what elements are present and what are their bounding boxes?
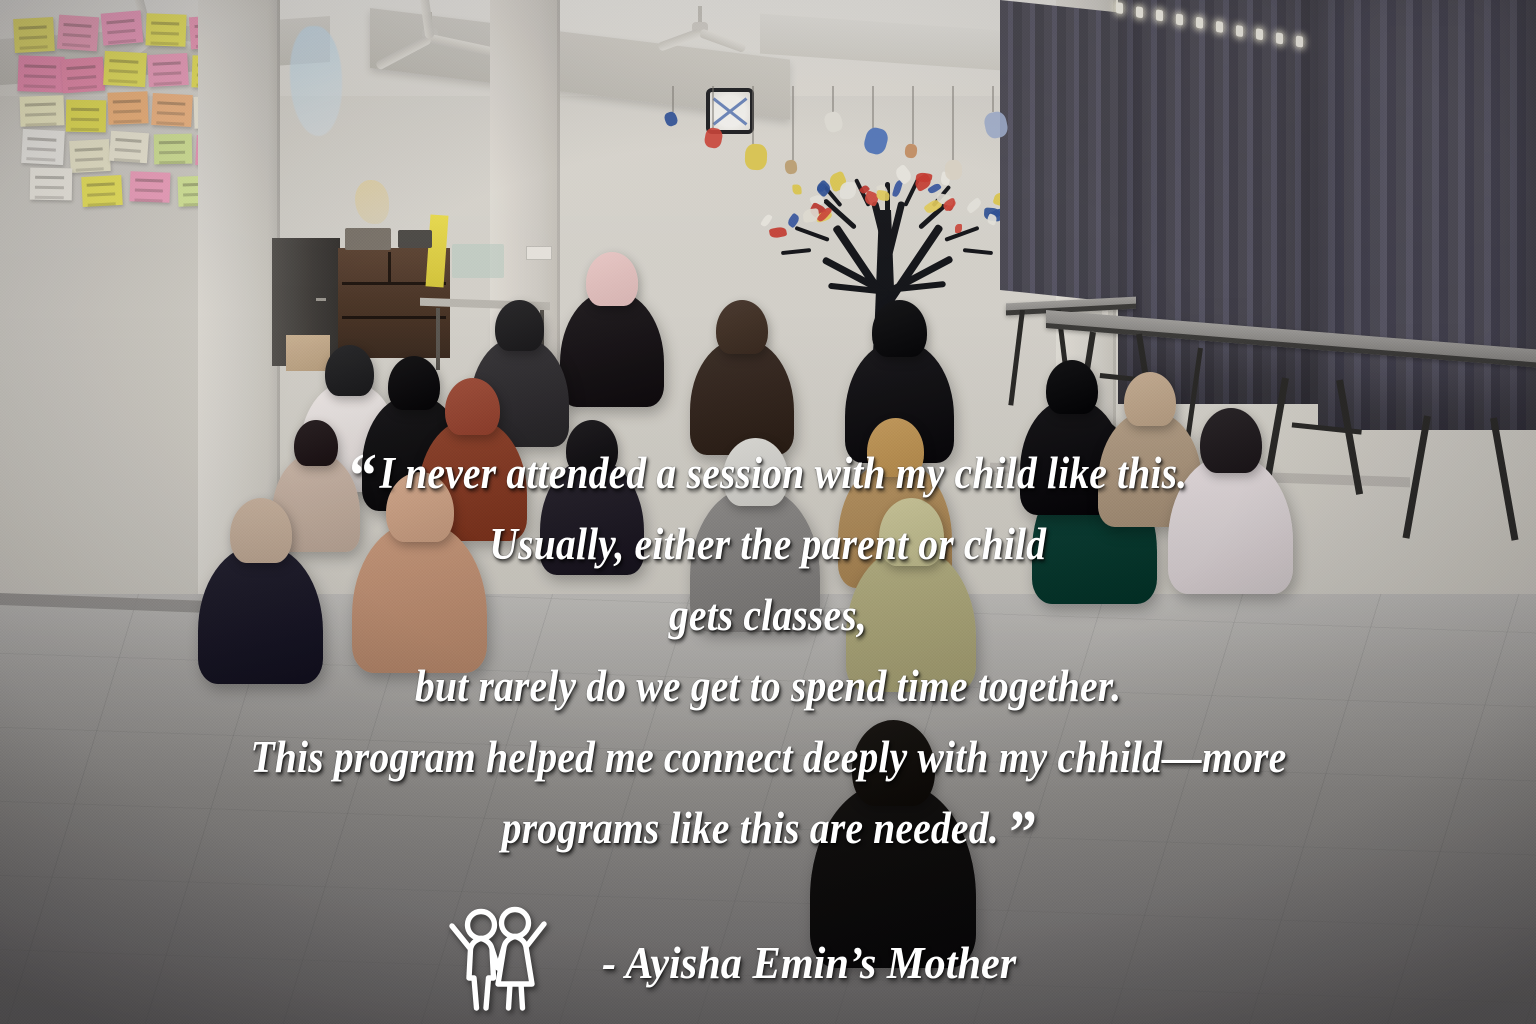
text-overlay: “I never attended a session with my chil… bbox=[0, 0, 1536, 1024]
quote-line-2: Usually, either the parent or child bbox=[490, 509, 1047, 580]
quote-line-5: This program helped me connect deeply wi… bbox=[250, 722, 1286, 793]
quote-card-canvas: “I never attended a session with my chil… bbox=[0, 0, 1536, 1024]
attribution-text: - Ayisha Emin’s Mother bbox=[602, 940, 1016, 986]
quote-line-4: but rarely do we get to spend time toget… bbox=[415, 651, 1121, 722]
quote-line-6: programs like this are needed.” bbox=[502, 793, 1035, 864]
quote-block: “I never attended a session with my chil… bbox=[138, 438, 1398, 864]
quote-line-1: “I never attended a session with my chil… bbox=[349, 438, 1187, 509]
quote-line-1-text: I never attended a session with my child… bbox=[379, 448, 1187, 498]
attribution: - Ayisha Emin’s Mother bbox=[446, 904, 1034, 1021]
quote-line-6-text: programs like this are needed. bbox=[502, 803, 999, 853]
two-children-holding-hands-logo bbox=[446, 904, 550, 1021]
quote-line-3: gets classes, bbox=[669, 580, 867, 651]
close-quote-mark: ” bbox=[1009, 799, 1034, 867]
open-quote-mark: “ bbox=[349, 442, 374, 510]
